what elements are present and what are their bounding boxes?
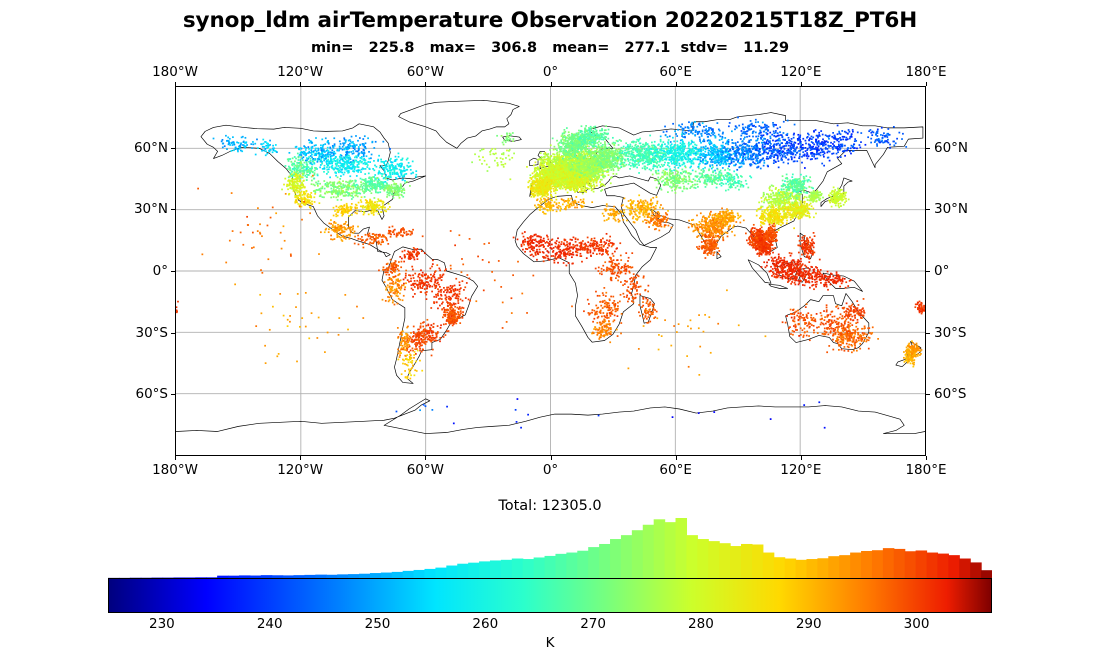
- figure-title: synop_ldm airTemperature Observation 202…: [0, 8, 1100, 33]
- lat-tick-mark: [171, 209, 175, 210]
- lon-tick-mark: [551, 82, 552, 86]
- lat-tick-mark: [926, 209, 930, 210]
- lat-tick-label-left-3: 30°S: [136, 325, 169, 341]
- lon-tick-mark: [425, 82, 426, 86]
- lat-tick-label-right-0: 60°N: [934, 140, 968, 156]
- lat-tick-mark: [171, 271, 175, 272]
- lon-tick-label-top-3: 0°: [543, 64, 558, 80]
- lon-tick-mark: [801, 456, 802, 460]
- lat-tick-mark: [171, 333, 175, 334]
- lat-tick-label-right-2: 0°: [934, 263, 949, 279]
- figure-statistics-subtitle: min= 225.8 max= 306.8 mean= 277.1 stdv= …: [0, 40, 1100, 56]
- lon-tick-mark: [175, 456, 176, 460]
- lat-tick-label-left-0: 60°N: [134, 140, 168, 156]
- lat-tick-mark: [926, 148, 930, 149]
- total-observations-caption: Total: 12305.0: [0, 498, 1100, 514]
- lat-tick-mark: [926, 394, 930, 395]
- colorbar-gradient-fill: [109, 579, 991, 612]
- lon-tick-label-bottom-6: 180°E: [905, 462, 946, 478]
- lon-tick-label-top-1: 120°W: [277, 64, 323, 80]
- lon-tick-label-bottom-1: 120°W: [277, 462, 323, 478]
- lon-tick-label-top-0: 180°W: [152, 64, 198, 80]
- lon-tick-label-bottom-0: 180°W: [152, 462, 198, 478]
- observation-scatter-points: [176, 87, 925, 455]
- map-plot-area[interactable]: [175, 86, 926, 456]
- lat-tick-mark: [926, 271, 930, 272]
- colorbar-tick-label-3: 260: [472, 616, 498, 632]
- colorbar-tick-label-5: 280: [688, 616, 714, 632]
- lon-tick-mark: [676, 82, 677, 86]
- lon-tick-label-bottom-5: 120°E: [780, 462, 821, 478]
- lon-tick-mark: [175, 82, 176, 86]
- lon-tick-label-top-5: 120°E: [780, 64, 821, 80]
- lon-tick-mark: [926, 82, 927, 86]
- lat-tick-mark: [926, 333, 930, 334]
- colorbar-tick-label-4: 270: [580, 616, 606, 632]
- colorbar-section: 230240250260270280290300 K: [108, 515, 992, 640]
- lon-tick-label-top-2: 60°W: [407, 64, 444, 80]
- lat-tick-label-left-4: 60°S: [136, 386, 169, 402]
- colorbar-tick-label-0: 230: [149, 616, 175, 632]
- lat-tick-label-left-2: 0°: [153, 263, 168, 279]
- lat-tick-label-right-3: 30°S: [934, 325, 967, 341]
- lon-tick-mark: [801, 82, 802, 86]
- lon-tick-mark: [676, 456, 677, 460]
- lon-tick-mark: [551, 456, 552, 460]
- lat-tick-mark: [171, 148, 175, 149]
- lon-tick-label-bottom-4: 60°E: [659, 462, 691, 478]
- value-distribution-histogram: [108, 515, 992, 578]
- lat-tick-label-right-4: 60°S: [934, 386, 967, 402]
- lon-tick-mark: [425, 456, 426, 460]
- lon-tick-label-top-6: 180°E: [905, 64, 946, 80]
- lon-tick-mark: [926, 456, 927, 460]
- lon-tick-mark: [300, 456, 301, 460]
- lon-tick-label-bottom-3: 0°: [543, 462, 558, 478]
- lat-tick-label-left-1: 30°N: [134, 201, 168, 217]
- lat-tick-label-right-1: 30°N: [934, 201, 968, 217]
- colorbar-tick-label-7: 300: [904, 616, 930, 632]
- colorbar-tick-label-6: 290: [796, 616, 822, 632]
- lon-tick-label-bottom-2: 60°W: [407, 462, 444, 478]
- colorbar-tick-label-1: 240: [257, 616, 283, 632]
- colorbar-unit-label: K: [108, 635, 992, 651]
- lon-tick-mark: [300, 82, 301, 86]
- colorbar-tick-label-2: 250: [365, 616, 391, 632]
- lon-tick-label-top-4: 60°E: [659, 64, 691, 80]
- colorbar-gradient-bar[interactable]: [108, 578, 992, 613]
- lat-tick-mark: [171, 394, 175, 395]
